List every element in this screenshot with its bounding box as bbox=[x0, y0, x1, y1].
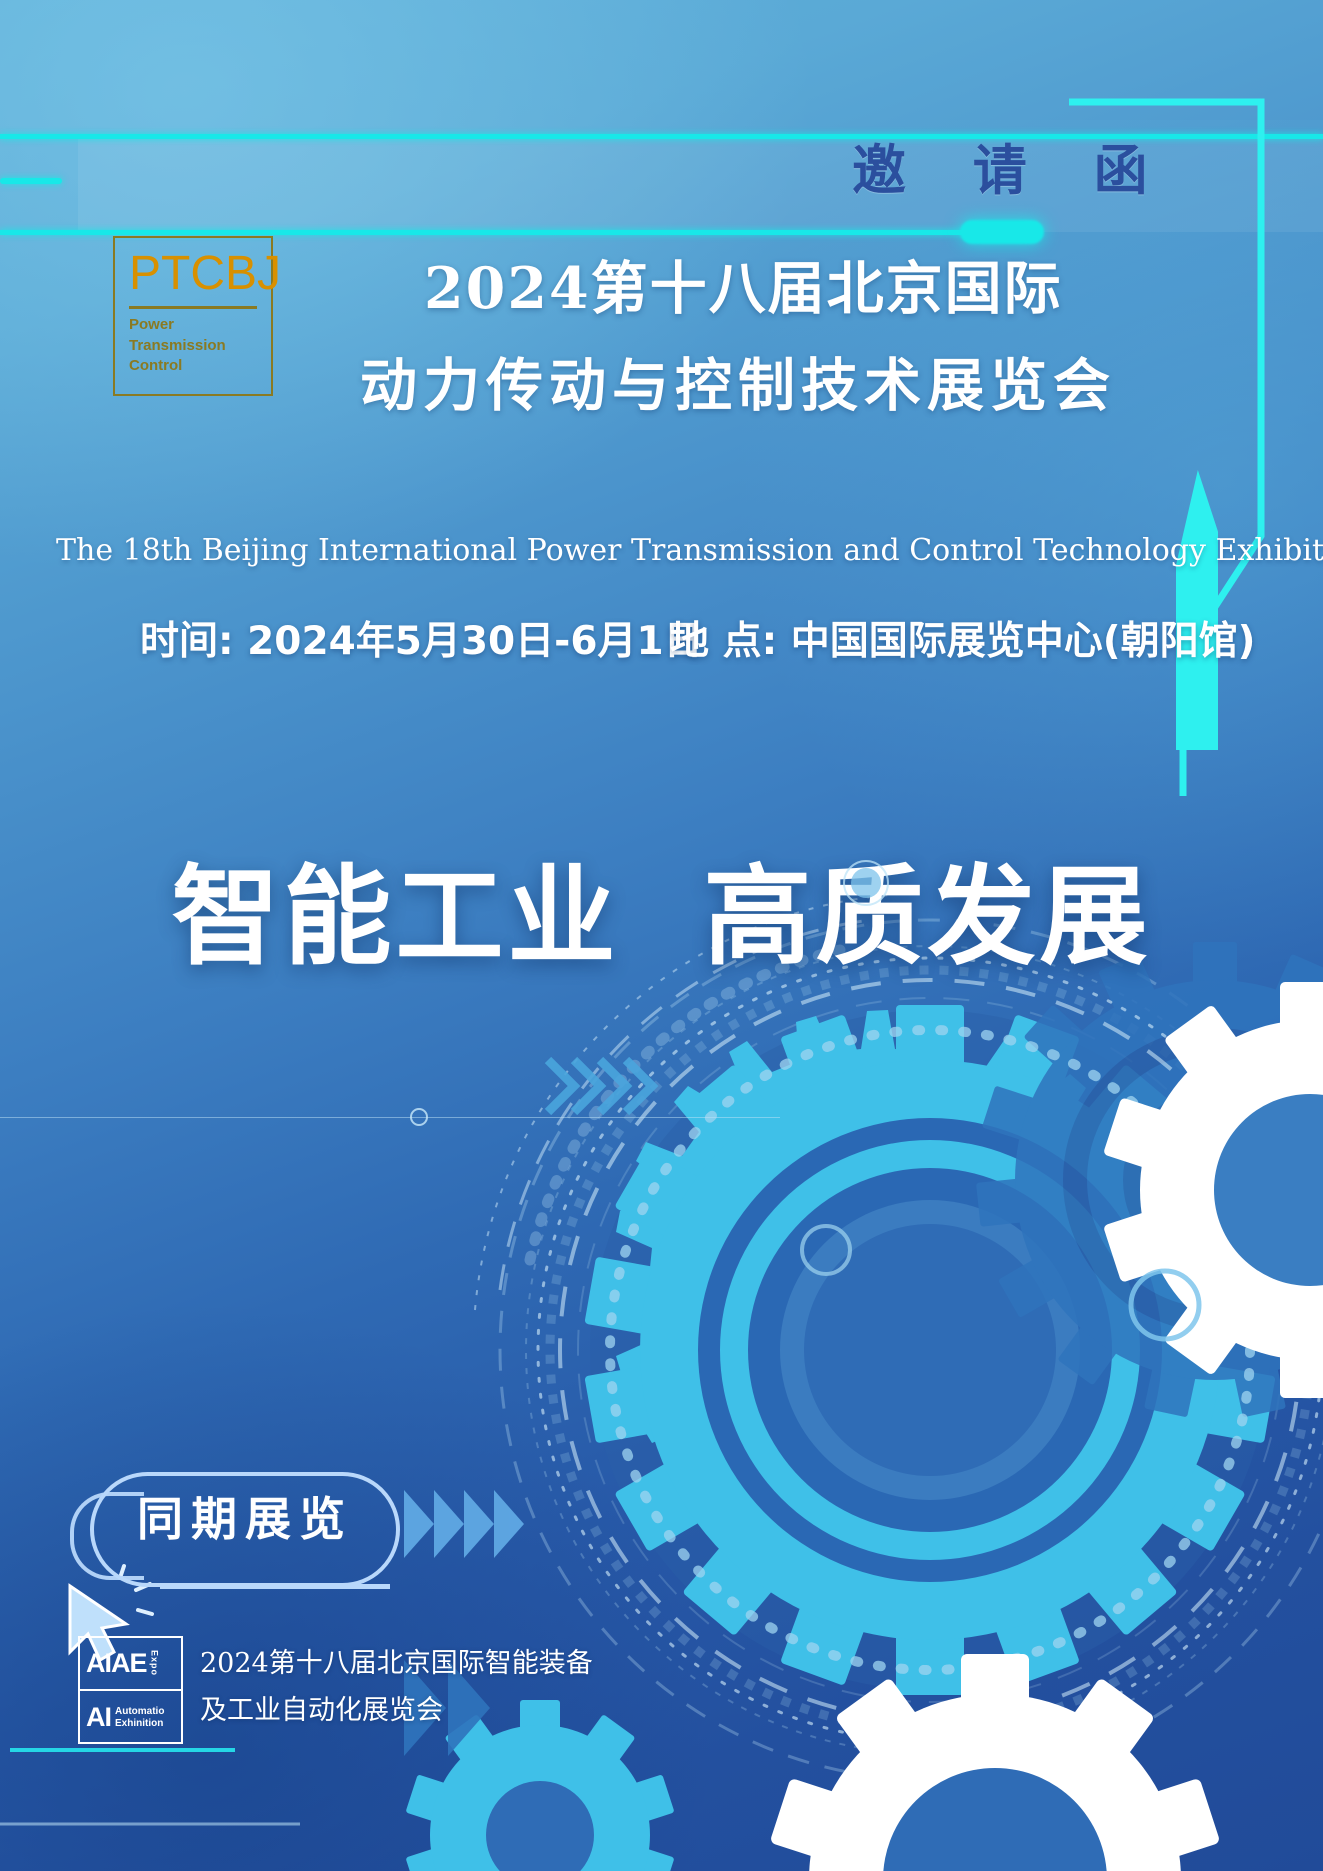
aiae-logo-expo-label: Expo bbox=[150, 1650, 159, 1676]
ptcbj-logo-acronym: PTCBJ bbox=[129, 250, 257, 298]
event-venue: 地 点: 中国国际展览中心(朝阳馆) bbox=[670, 610, 1255, 666]
aiae-cyan-underline bbox=[10, 1748, 235, 1752]
event-date: 时间: 2024年5月30日-6月1日 bbox=[140, 610, 703, 666]
concurrent-badge-label: 同期展览 bbox=[90, 1483, 400, 1549]
tech-ring-inner bbox=[851, 868, 881, 898]
aiae-logo-ai-mark: AI bbox=[86, 1704, 111, 1731]
ptcbj-logo-sub-line1: Power bbox=[129, 315, 257, 336]
concurrent-exhibition-name: 2024第十八届北京国际智能装备 及工业自动化展览会 bbox=[200, 1640, 593, 1735]
aiae-logo: AIAE Expo AI Automatio Exhinition bbox=[78, 1636, 183, 1744]
invitation-heading: 邀 请 函 bbox=[852, 126, 1172, 205]
ptcbj-logo-sub-line2: Transmission bbox=[129, 336, 257, 357]
aiae-logo-row-secondary: AI Automatio Exhinition bbox=[80, 1691, 181, 1744]
tech-hairline bbox=[0, 1117, 780, 1118]
slogan-right: 高质发展 bbox=[704, 855, 1152, 980]
aiae-logo-caption-line1: Automatio bbox=[115, 1706, 164, 1718]
cyan-dot-accent bbox=[960, 220, 1044, 244]
aiae-logo-acronym: AIAE bbox=[86, 1650, 147, 1677]
invitation-poster: 邀 请 函 PTCBJ Power Transmission Control 2… bbox=[0, 0, 1323, 1871]
ptcbj-logo-divider bbox=[129, 306, 257, 309]
concurrent-badge-underline bbox=[160, 1584, 390, 1589]
aiae-logo-row-primary: AIAE Expo bbox=[80, 1638, 181, 1691]
ptcbj-logo-subtitle: Power Transmission Control bbox=[129, 315, 257, 377]
slogan-left: 智能工业 bbox=[171, 855, 619, 980]
event-slogan: 智能工业高质发展 bbox=[0, 830, 1323, 986]
event-title-line1: 2024第十八届北京国际 bbox=[424, 243, 1063, 325]
concurrent-exhibition-name-line1: 2024第十八届北京国际智能装备 bbox=[200, 1640, 593, 1687]
tech-node-dot bbox=[410, 1108, 428, 1126]
cyan-rule-second bbox=[0, 230, 1030, 235]
aiae-logo-caption-line2: Exhinition bbox=[115, 1718, 164, 1730]
cyan-tick-left bbox=[0, 178, 62, 184]
concurrent-exhibition-name-line2: 及工业自动化展览会 bbox=[200, 1687, 593, 1734]
event-title-english: The 18th Beijing International Power Tra… bbox=[56, 533, 1286, 568]
event-title-line2: 动力传动与控制技术展览会 bbox=[360, 340, 1116, 422]
ptcbj-logo: PTCBJ Power Transmission Control bbox=[113, 236, 273, 396]
aiae-logo-caption: Automatio Exhinition bbox=[115, 1706, 164, 1730]
ptcbj-logo-sub-line3: Control bbox=[129, 356, 257, 377]
